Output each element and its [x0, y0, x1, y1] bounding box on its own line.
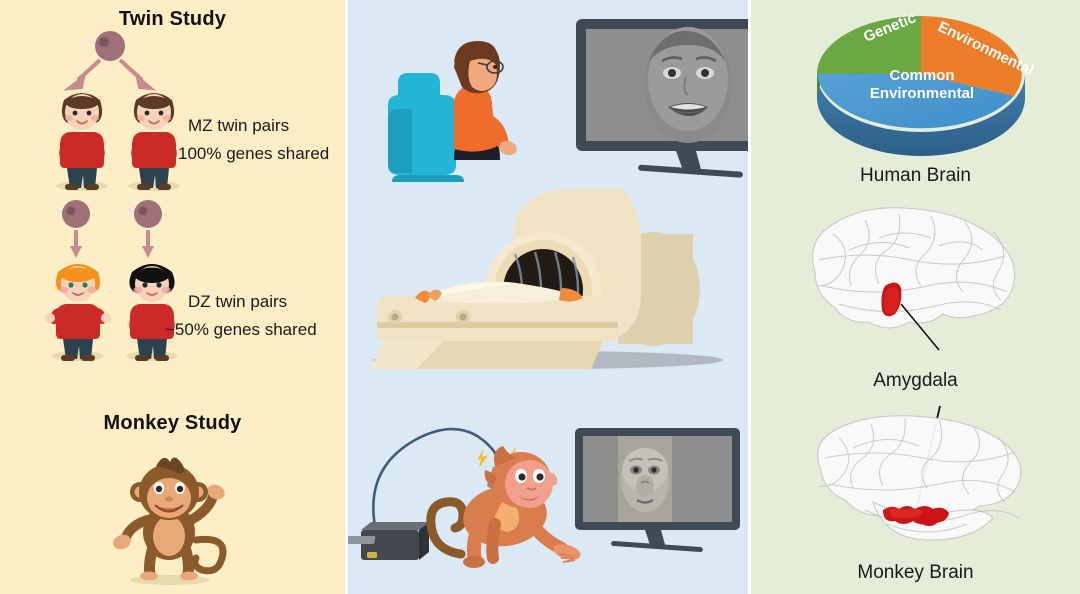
monkey-study-title: Monkey Study: [0, 412, 345, 435]
cartoon-monkey-illustration: [92, 448, 257, 588]
mz-genes-shared-label: 100% genes shared: [178, 144, 329, 164]
mz-twin-illustration: [40, 28, 220, 188]
human-viewing-face-scene: [358, 5, 748, 190]
human-brain-label: Human Brain: [751, 165, 1080, 187]
panel-brain-results: Genetic Environmental Common Environment…: [751, 0, 1080, 594]
mz-twin-pairs-label: MZ twin pairs: [188, 116, 289, 136]
human-brain-illustration: [779, 198, 1059, 348]
dz-twin-pairs-label: DZ twin pairs: [188, 292, 287, 312]
mri-scanner-scene: [353, 182, 743, 377]
monkey-recording-scene: [353, 408, 743, 588]
variance-components-pie-chart: Genetic Environmental Common Environment…: [809, 2, 1034, 152]
panel-twin-monkey-study: Twin Study: [0, 0, 345, 594]
monkey-brain-label: Monkey Brain: [751, 562, 1080, 584]
pie-label-common-environmental-line1: Common: [890, 67, 955, 84]
monkey-brain-illustration: [777, 398, 1062, 558]
figure-root: Twin Study: [0, 0, 1080, 594]
panel-experimental-paradigm: [348, 0, 748, 594]
dz-genes-shared-label: ~50% genes shared: [165, 320, 317, 340]
pie-label-common-environmental-line2: Environmental: [870, 85, 974, 102]
amygdala-label: Amygdala: [751, 370, 1080, 392]
